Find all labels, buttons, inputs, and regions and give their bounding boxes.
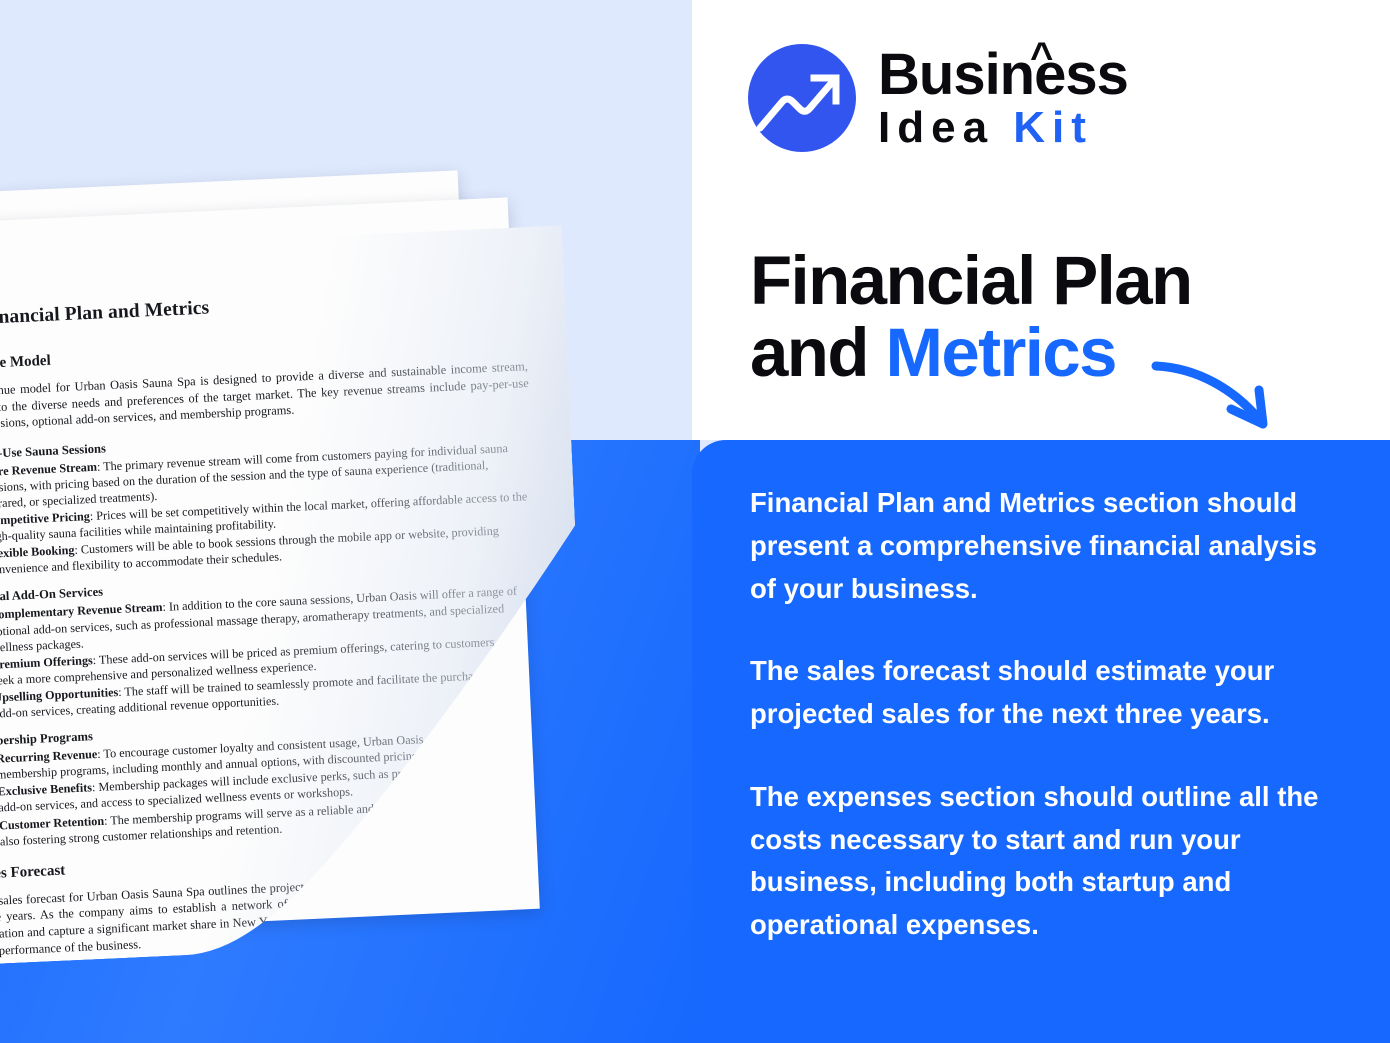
page-title-line-2-dark: and xyxy=(750,314,885,391)
brand-circumflex-accent: ^ xyxy=(1030,38,1052,76)
brand-line-2-accent: Kit xyxy=(1013,103,1093,152)
page-title: Financial Plan and Metrics xyxy=(750,245,1350,389)
document-title: VI. Financial Plan and Metrics xyxy=(0,283,525,331)
brand-logo[interactable]: Business ^ Idea Kit xyxy=(748,44,1128,152)
panel-paragraph-2: The sales forecast should estimate your … xyxy=(750,650,1350,736)
slide-canvas: VI. Financial Plan and Metrics Revenue M… xyxy=(0,0,1390,1043)
trending-up-arrow-icon xyxy=(748,44,856,152)
panel-description: Financial Plan and Metrics section shoul… xyxy=(750,482,1350,947)
panel-paragraph-3: The expenses section should outline all … xyxy=(750,776,1350,947)
document-intro: The revenue model for Urban Oasis Sauna … xyxy=(0,358,530,434)
brand-line-2-dark: Idea xyxy=(878,103,994,152)
brand-line-1-text: Business xyxy=(878,42,1128,107)
brand-line-1: Business ^ xyxy=(878,47,1128,103)
panel-paragraph-1: Financial Plan and Metrics section shoul… xyxy=(750,482,1350,610)
page-title-line-2-accent: Metrics xyxy=(885,314,1115,391)
page-title-line-1: Financial Plan xyxy=(750,242,1192,319)
brand-wordmark: Business ^ Idea Kit xyxy=(878,45,1128,151)
brand-line-2: Idea Kit xyxy=(878,105,1128,151)
document-list-1: Core Revenue Stream: The primary revenue… xyxy=(0,439,536,580)
